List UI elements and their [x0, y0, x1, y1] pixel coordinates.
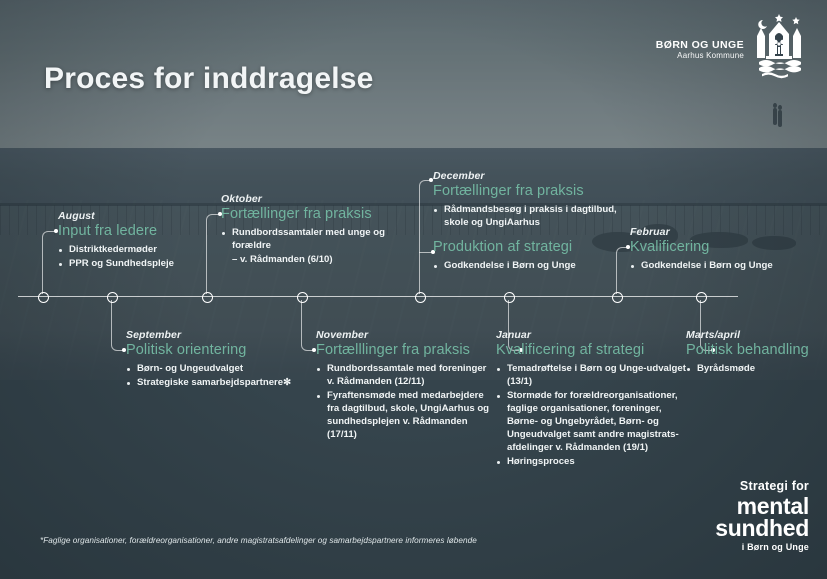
block-heading: Politisk behandling — [686, 342, 826, 358]
block-bullet-list: Rundbordssamtaler med unge og forældre –… — [221, 227, 396, 267]
brand-logo-line1: BØRN OG UNGE — [656, 39, 744, 51]
footnote: *Faglige organisationer, forældreorganis… — [40, 536, 477, 545]
page-title: Proces for inddragelse — [44, 62, 374, 96]
strategy-line1: Strategi for — [715, 480, 809, 493]
block-bullet-list-secondary: Godkendelse i Børn og Unge — [433, 260, 633, 273]
timeline-block-februar: Februar Kvalificering Godkendelse i Børn… — [630, 226, 810, 274]
block-month: Februar — [630, 226, 810, 238]
block-heading: Fortællinger fra praksis — [221, 206, 396, 222]
strategy-wordmark: Strategi for mental sundhed i Børn og Un… — [715, 480, 809, 552]
list-item: Stormøde for forældreorganisationer, fag… — [496, 390, 688, 455]
aarhus-coat-of-arms-icon — [751, 14, 807, 85]
block-month: August — [58, 210, 218, 222]
timeline-block-december: December Fortællinger fra praksis Rådman… — [433, 170, 633, 274]
timeline-block-oktober: Oktober Fortællinger fra praksis Rundbor… — [221, 193, 396, 268]
list-item: Godkendelse i Børn og Unge — [630, 260, 810, 273]
timeline-axis — [18, 296, 738, 297]
list-item: Distriktkedermøder — [58, 244, 218, 257]
list-item: Rundbordssamtale med foreninger v. Rådma… — [316, 363, 496, 389]
block-heading: Fortælllinger fra praksis — [316, 342, 496, 358]
block-heading: Politisk orientering — [126, 342, 306, 358]
block-bullet-list: Rådmandsbesøg i praksis i dagtilbud, sko… — [433, 204, 633, 230]
block-bullet-list: Børn- og Ungeudvalget Strategiske samarb… — [126, 363, 306, 390]
block-heading-secondary: Produktion af strategi — [433, 239, 633, 255]
timeline-block-marts-april: Marts/april Politisk behandling Byrådsmø… — [686, 329, 826, 377]
list-item: Høringsproces — [496, 456, 688, 469]
block-month: Januar — [496, 329, 688, 341]
strategy-line4: i Børn og Unge — [715, 543, 809, 552]
list-item: Fyraftensmøde med medarbejdere fra dagti… — [316, 390, 496, 442]
list-item: Byrådsmøde — [686, 363, 826, 376]
block-heading: Fortællinger fra praksis — [433, 183, 633, 199]
block-month: September — [126, 329, 306, 341]
block-heading: Input fra ledere — [58, 223, 218, 239]
list-item: Temadrøftelse i Børn og Unge-udvalget (1… — [496, 363, 688, 389]
block-bullet-list: Godkendelse i Børn og Unge — [630, 260, 810, 273]
slide-canvas: Proces for inddragelse BØRN OG UNGE Aarh… — [0, 0, 827, 579]
list-item: Strategiske samarbejdspartnere✻ — [126, 377, 306, 390]
block-month: December — [433, 170, 633, 182]
timeline-block-august: August Input fra ledere Distriktkedermød… — [58, 210, 218, 272]
brand-logo-text: BØRN OG UNGE Aarhus Kommune — [656, 39, 744, 60]
list-item: PPR og Sundhedspleje — [58, 258, 218, 271]
list-item: Børn- og Ungeudvalget — [126, 363, 306, 376]
timeline-block-september: September Politisk orientering Børn- og … — [126, 329, 306, 391]
block-bullet-list: Distriktkedermøder PPR og Sundhedspleje — [58, 244, 218, 271]
list-item: Rådmandsbesøg i praksis i dagtilbud, sko… — [433, 204, 633, 230]
brand-logo: BØRN OG UNGE Aarhus Kommune — [656, 14, 807, 85]
block-heading: Kvalificering — [630, 239, 810, 255]
brand-logo-line2: Aarhus Kommune — [656, 51, 744, 60]
block-bullet-list: Byrådsmøde — [686, 363, 826, 376]
list-item: Godkendelse i Børn og Unge — [433, 260, 633, 273]
list-item-sub: – v. Rådmanden (6/10) — [221, 254, 396, 267]
block-heading: Kvalificering af strategi — [496, 342, 688, 358]
list-item: Rundbordssamtaler med unge og forældre — [221, 227, 396, 253]
timeline-block-januar: Januar Kvalificering af strategi Temadrø… — [496, 329, 688, 470]
block-month: Oktober — [221, 193, 396, 205]
block-bullet-list: Rundbordssamtale med foreninger v. Rådma… — [316, 363, 496, 442]
strategy-line3: sundhed — [715, 517, 809, 540]
timeline-block-november: November Fortælllinger fra praksis Rundb… — [316, 329, 496, 443]
block-month: November — [316, 329, 496, 341]
block-bullet-list: Temadrøftelse i Børn og Unge-udvalget (1… — [496, 363, 688, 469]
block-month: Marts/april — [686, 329, 826, 341]
